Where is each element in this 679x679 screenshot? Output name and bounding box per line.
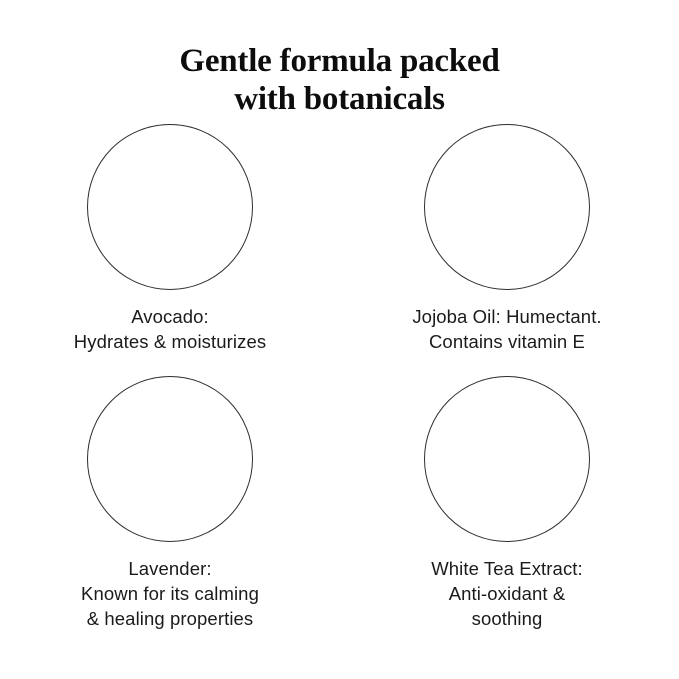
ingredient-circle-jojoba-oil — [424, 124, 590, 290]
circle-outline — [424, 376, 590, 542]
ingredient-caption-white-tea-extract: White Tea Extract: Anti-oxidant & soothi… — [357, 556, 657, 631]
ingredient-card-jojoba-oil: Jojoba Oil: Humectant. Contains vitamin … — [357, 124, 657, 354]
ingredient-caption-lavender: Lavender: Known for its calming & healin… — [20, 556, 320, 631]
caption-line: White Tea Extract: — [357, 556, 657, 581]
caption-line: Jojoba Oil: Humectant. — [357, 304, 657, 329]
caption-line: Hydrates & moisturizes — [20, 329, 320, 354]
caption-line: Avocado: — [20, 304, 320, 329]
ingredient-circle-avocado — [87, 124, 253, 290]
caption-line: soothing — [357, 606, 657, 631]
page-title-line-1: Gentle formula packed — [0, 42, 679, 80]
caption-line: Contains vitamin E — [357, 329, 657, 354]
circle-outline — [424, 124, 590, 290]
page-title: Gentle formula packed with botanicals — [0, 42, 679, 118]
ingredient-caption-avocado: Avocado: Hydrates & moisturizes — [20, 304, 320, 354]
ingredient-card-avocado: Avocado: Hydrates & moisturizes — [20, 124, 320, 354]
circle-outline — [87, 124, 253, 290]
ingredient-benefits-infographic: Gentle formula packed with botanicals — [0, 0, 679, 679]
caption-line: & healing properties — [20, 606, 320, 631]
circle-outline — [87, 376, 253, 542]
caption-line: Lavender: — [20, 556, 320, 581]
ingredient-circle-white-tea-extract — [424, 376, 590, 542]
page-title-line-2: with botanicals — [0, 80, 679, 118]
caption-line: Known for its calming — [20, 581, 320, 606]
caption-line: Anti-oxidant & — [357, 581, 657, 606]
ingredient-caption-jojoba-oil: Jojoba Oil: Humectant. Contains vitamin … — [357, 304, 657, 354]
ingredient-card-white-tea-extract: White Tea Extract: Anti-oxidant & soothi… — [357, 376, 657, 631]
ingredient-circle-lavender — [87, 376, 253, 542]
ingredient-card-lavender: Lavender: Known for its calming & healin… — [20, 376, 320, 631]
